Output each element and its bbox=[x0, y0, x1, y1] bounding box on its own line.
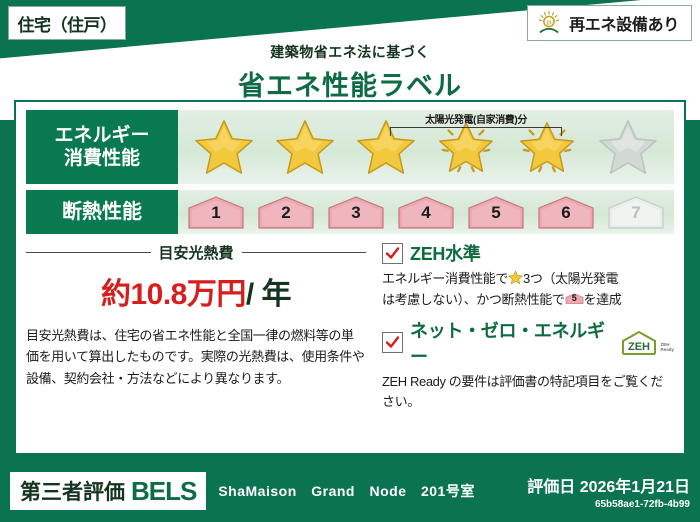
insulation-level-1-value: 1 bbox=[186, 204, 246, 221]
bels-en-label: BELS bbox=[131, 476, 196, 507]
utility-cost-amount: 約10.8万円 bbox=[101, 278, 246, 311]
energy-rating-label-line2: 消費性能 bbox=[64, 147, 140, 170]
energy-rating-label: エネルギー 消費性能 bbox=[26, 110, 178, 184]
zeh-house-icon: ZEH bbox=[620, 330, 658, 356]
insulation-level-2-value: 2 bbox=[256, 204, 316, 221]
evaluation-date: 評価日 2026年1月21日 bbox=[527, 473, 690, 497]
insulation-level-7-value: 7 bbox=[606, 204, 666, 221]
insulation-level-5: 5 bbox=[466, 195, 526, 229]
zeh-standard-heading: ZEH水準 bbox=[382, 240, 674, 266]
star-filled-solar-4 bbox=[435, 117, 497, 177]
star-empty-6 bbox=[597, 117, 659, 177]
net-zero-block: ネット・ゼロ・エネルギー ZEH ZEH Ready bbox=[382, 317, 674, 414]
utility-cost-heading-label: 目安光熱費 bbox=[159, 242, 234, 263]
insulation-level-7: 7 bbox=[606, 195, 666, 229]
label-card: エネルギー 消費性能 太陽光発電(自家消費)分 bbox=[14, 100, 686, 455]
star-filled-2 bbox=[274, 117, 336, 177]
heading-rule-left bbox=[26, 252, 151, 253]
net-zero-description: ZEH Ready の要件は評価書の特記項目をご覧ください。 bbox=[382, 372, 674, 414]
insulation-rating-levels: 1 2 3 4 5 bbox=[178, 190, 674, 234]
building-name: ShaMaison Grand Node 201号室 bbox=[218, 481, 475, 501]
energy-performance-label: 住宅（住戸） D 再エネ設備あり 建築物省エネ法に基づく bbox=[0, 0, 700, 522]
category-badge-label: 住宅（住戸） bbox=[18, 11, 117, 36]
insulation-level-5-value: 5 bbox=[466, 204, 526, 221]
star-filled-1 bbox=[193, 117, 255, 177]
insulation-level-1: 1 bbox=[186, 195, 246, 229]
utility-cost-column: 目安光熱費 約10.8万円/ 年 目安光熱費は、住宅の省エネ性能と全国一律の燃料… bbox=[26, 240, 374, 388]
zeh-ready-line2: Ready bbox=[660, 347, 674, 352]
star-filled-3 bbox=[355, 117, 417, 177]
evaluation-id: 65b58ae1-72fb-4b99 bbox=[527, 499, 690, 510]
insulation-level-4-value: 4 bbox=[396, 204, 456, 221]
zeh-ready-logo: ZEH ZEH Ready bbox=[620, 330, 674, 356]
zeh-standard-description: エネルギー消費性能で3つ（太陽光発電は考慮しない）、かつ断熱性能で5を達成 bbox=[382, 269, 674, 311]
title-subtitle: 建築物省エネ法に基づく bbox=[0, 42, 700, 62]
insulation-rating-label-text: 断熱性能 bbox=[62, 200, 142, 224]
zeh-desc-part2: は考慮しない）、かつ断熱性能で bbox=[382, 292, 565, 307]
zeh-standard-title: ZEH水準 bbox=[410, 240, 481, 266]
zeh-column: ZEH水準 エネルギー消費性能で3つ（太陽光発電は考慮しない）、かつ断熱性能で5… bbox=[374, 240, 674, 388]
renewable-badge-label: 再エネ設備あり bbox=[569, 11, 679, 35]
zeh-standard-block: ZEH水準 エネルギー消費性能で3つ（太陽光発電は考慮しない）、かつ断熱性能で5… bbox=[382, 240, 674, 311]
footer: 第三者評価 BELS ShaMaison Grand Node 201号室 評価… bbox=[0, 460, 700, 522]
utility-cost-note: 目安光熱費は、住宅の省エネ性能と全国一律の燃料等の単価を用いて算出したものです。… bbox=[26, 325, 366, 389]
page-title: 建築物省エネ法に基づく 省エネ性能ラベル bbox=[0, 42, 700, 103]
renewable-energy-badge: D 再エネ設備あり bbox=[527, 5, 692, 41]
solar-sun-icon: D bbox=[536, 10, 562, 36]
evaluation-meta: 評価日 2026年1月21日 65b58ae1-72fb-4b99 bbox=[527, 473, 690, 510]
energy-rating-row: エネルギー 消費性能 太陽光発電(自家消費)分 bbox=[26, 110, 674, 184]
star-filled-solar-5 bbox=[516, 117, 578, 177]
heading-rule-right bbox=[242, 252, 367, 253]
net-zero-checkbox[interactable] bbox=[382, 332, 403, 353]
details-section: 目安光熱費 約10.8万円/ 年 目安光熱費は、住宅の省エネ性能と全国一律の燃料… bbox=[26, 240, 674, 388]
zeh-desc-star-count: 3つ（太陽光発電 bbox=[523, 271, 618, 286]
energy-rating-label-line1: エネルギー bbox=[54, 124, 149, 147]
utility-cost-value: 約10.8万円/ 年 bbox=[26, 269, 366, 313]
insulation-level-3: 3 bbox=[326, 195, 386, 229]
inline-badge-value: 5 bbox=[565, 294, 584, 303]
svg-text:D: D bbox=[547, 19, 552, 26]
inline-insulation-badge-icon: 5 bbox=[565, 291, 584, 306]
insulation-level-2: 2 bbox=[256, 195, 316, 229]
utility-cost-heading: 目安光熱費 bbox=[26, 242, 366, 263]
energy-rating-stars: 太陽光発電(自家消費)分 bbox=[178, 110, 674, 184]
bels-jp-label: 第三者評価 bbox=[20, 476, 125, 506]
insulation-rating-label: 断熱性能 bbox=[26, 190, 178, 234]
zeh-ready-sublabel: ZEH Ready bbox=[660, 343, 674, 356]
zeh-desc-part1: エネルギー消費性能で bbox=[382, 271, 508, 286]
svg-text:ZEH: ZEH bbox=[628, 341, 650, 353]
inline-star-icon bbox=[508, 271, 523, 286]
zeh-standard-checkbox[interactable] bbox=[382, 243, 403, 264]
net-zero-title: ネット・ゼロ・エネルギー bbox=[410, 317, 610, 369]
zeh-desc-part3: を達成 bbox=[584, 292, 622, 307]
insulation-level-6: 6 bbox=[536, 195, 596, 229]
utility-cost-unit: / 年 bbox=[246, 278, 291, 311]
category-badge: 住宅（住戸） bbox=[8, 6, 126, 40]
net-zero-heading: ネット・ゼロ・エネルギー ZEH ZEH Ready bbox=[382, 317, 674, 369]
title-main: 省エネ性能ラベル bbox=[0, 64, 700, 103]
insulation-level-4: 4 bbox=[396, 195, 456, 229]
insulation-level-3-value: 3 bbox=[326, 204, 386, 221]
insulation-level-6-value: 6 bbox=[536, 204, 596, 221]
insulation-rating-row: 断熱性能 1 2 3 4 bbox=[26, 190, 674, 234]
bels-certification-badge: 第三者評価 BELS bbox=[10, 472, 206, 510]
